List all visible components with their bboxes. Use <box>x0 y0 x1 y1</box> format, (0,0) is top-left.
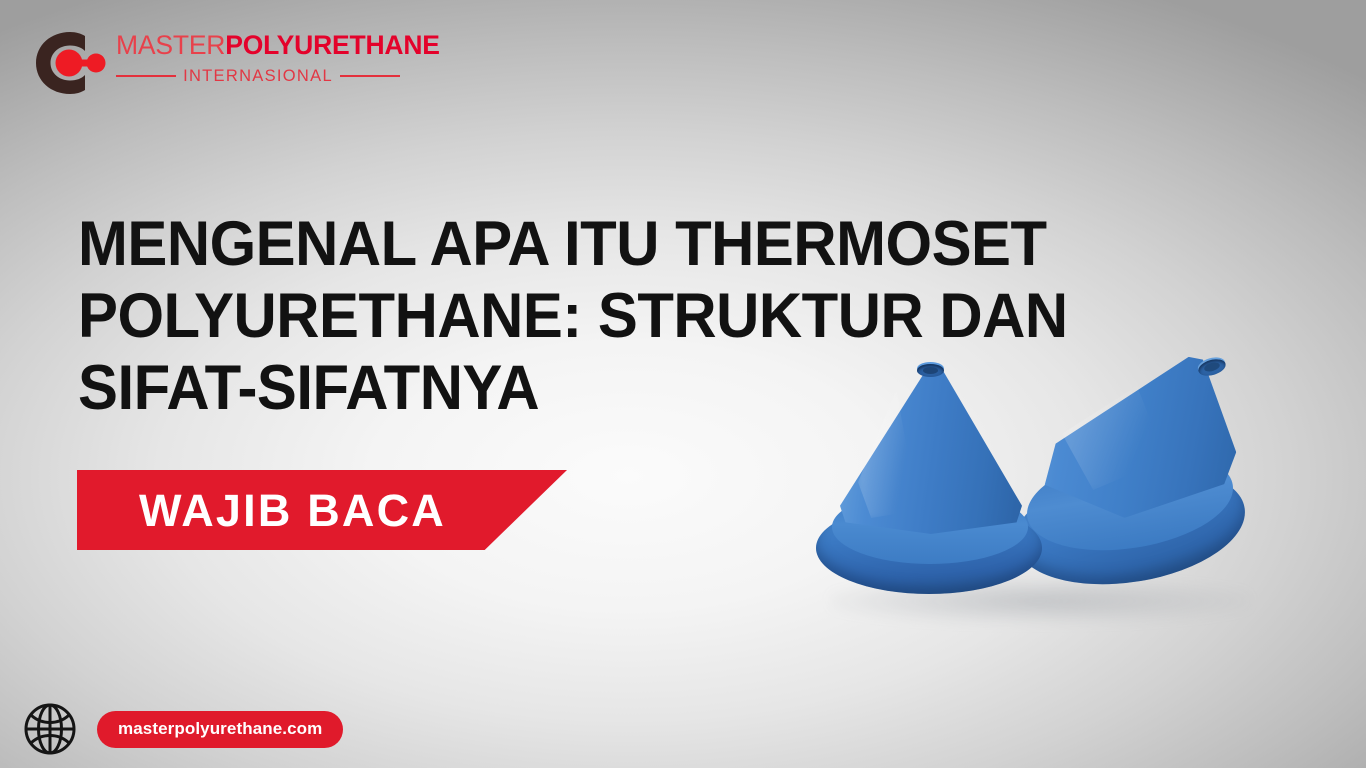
product-left-tip-hole <box>923 367 938 374</box>
brand-tagline: INTERNASIONAL <box>183 67 333 86</box>
banner-canvas: MASTERPOLYURETHANE INTERNASIONAL MENGENA… <box>0 0 1366 768</box>
footer-bar: masterpolyurethane.com <box>22 700 343 758</box>
brand-tagline-row: INTERNASIONAL <box>116 67 400 86</box>
status-badge: WAJIB BACA <box>77 470 567 550</box>
website-url-pill[interactable]: masterpolyurethane.com <box>97 711 343 748</box>
brand-name-line: MASTERPOLYURETHANE <box>116 32 402 59</box>
tagline-rule-right <box>340 75 400 77</box>
product-left-cone <box>840 368 1022 534</box>
brand-logo[interactable]: MASTERPOLYURETHANE INTERNASIONAL <box>34 28 404 100</box>
page-title-line-2: POLYURETHANE: STRUKTUR DAN <box>78 280 1057 352</box>
tagline-rule-left <box>116 75 176 77</box>
brand-logo-text: MASTERPOLYURETHANE INTERNASIONAL <box>116 32 402 86</box>
product-image <box>800 350 1270 640</box>
website-url-label: masterpolyurethane.com <box>118 719 322 739</box>
brand-name-master: MASTER <box>116 30 225 60</box>
brand-name-polyurethane: POLYURETHANE <box>225 30 440 60</box>
page-title-line-1: MENGENAL APA ITU THERMOSET <box>78 208 1057 280</box>
status-badge-label: WAJIB BACA <box>77 488 446 533</box>
c-molecule-logo-icon <box>34 30 108 96</box>
globe-icon <box>22 701 78 757</box>
